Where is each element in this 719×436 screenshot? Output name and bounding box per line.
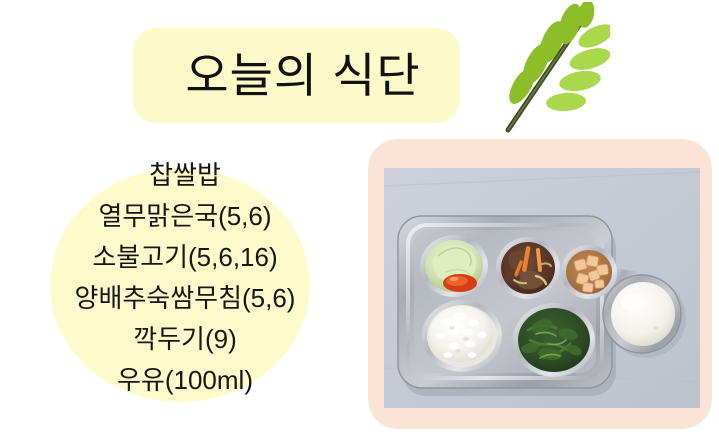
list-item: 깍두기(9)	[133, 319, 237, 360]
school-lunch-tray-photo	[384, 168, 700, 408]
list-item: 찹쌀밥	[149, 155, 221, 196]
menu-list: 찹쌀밥 열무맑은국(5,6) 소불고기(5,6,16) 양배추숙쌈무침(5,6)…	[20, 155, 350, 401]
list-item: 우유(100ml)	[117, 360, 253, 401]
page-title: 오늘의 식단	[133, 28, 473, 123]
list-item: 소불고기(5,6,16)	[92, 237, 277, 278]
leaf-branch-icon	[480, 2, 610, 137]
list-item: 열무맑은국(5,6)	[98, 196, 271, 237]
list-item: 양배추숙쌈무침(5,6)	[75, 278, 296, 319]
menu-poster: 오늘의 식단 찹쌀밥 열무맑은국(5,6) 소불고기(5,6,16) 양배추숙쌈…	[0, 0, 719, 436]
